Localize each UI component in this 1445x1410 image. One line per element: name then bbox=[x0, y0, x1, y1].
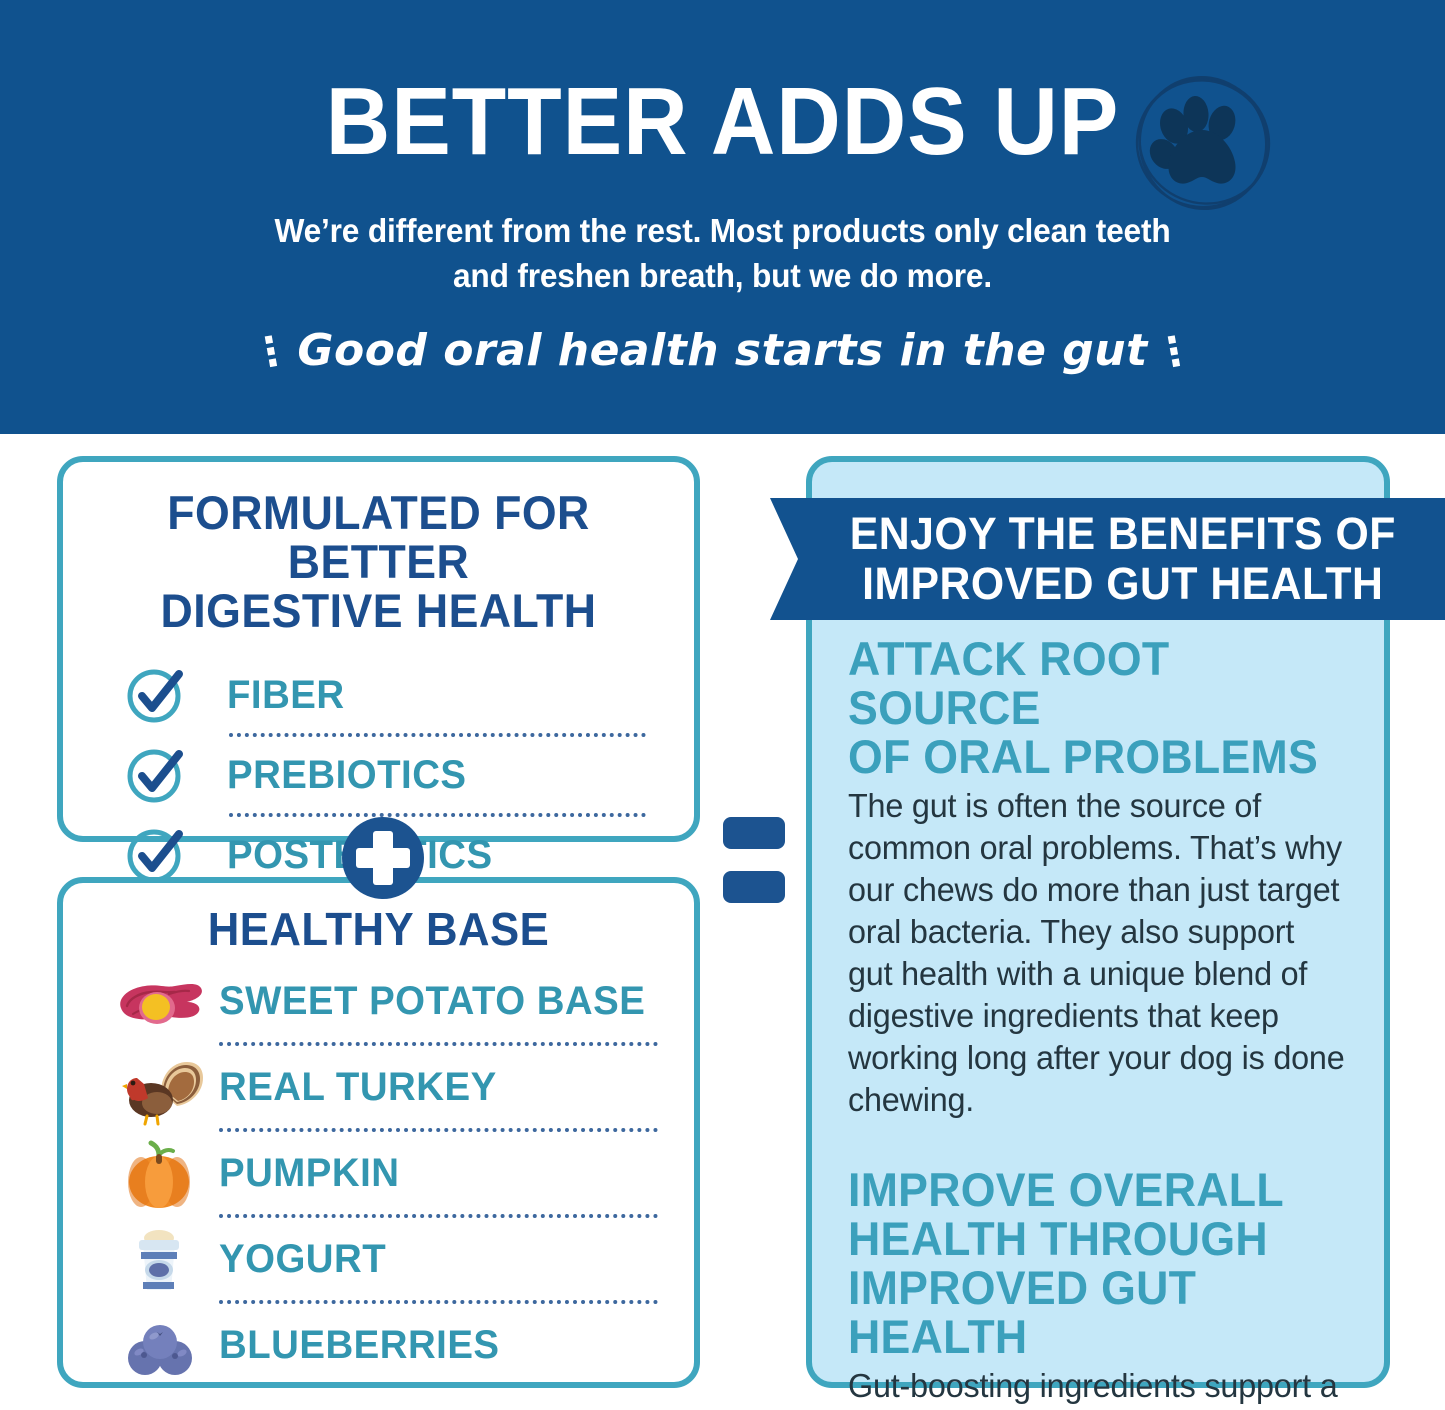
section-title-line2: OF ORAL PROBLEMS bbox=[848, 732, 1331, 781]
healthy-base-card: HEALTHY BASE SWEET POTATO BASE bbox=[57, 877, 700, 1388]
list-item: PUMPKIN bbox=[113, 1132, 668, 1214]
divider bbox=[219, 1128, 658, 1132]
tagline-deco-left: ⋮ bbox=[241, 325, 301, 379]
benefits-content: ATTACK ROOT SOURCE OF ORAL PROBLEMS The … bbox=[812, 634, 1384, 1410]
benefits-panel: ENJOY THE BENEFITS OF IMPROVED GUT HEALT… bbox=[806, 456, 1390, 1388]
content-area: FORMULATED FOR BETTER DIGESTIVE HEALTH F… bbox=[0, 434, 1445, 1410]
header-subtitle-line2: and freshen breath, but we do more. bbox=[29, 253, 1416, 298]
formulated-title-line1: FORMULATED FOR BETTER bbox=[79, 488, 678, 586]
list-item: SWEET POTATO BASE bbox=[113, 960, 668, 1042]
list-item-label: FIBER bbox=[227, 673, 345, 718]
header-banner: BETTER ADDS UP We’re different from the bbox=[0, 0, 1445, 434]
list-item-label: SWEET POTATO BASE bbox=[219, 979, 645, 1024]
formulated-title-line2: DIGESTIVE HEALTH bbox=[79, 586, 678, 635]
formulated-card: FORMULATED FOR BETTER DIGESTIVE HEALTH F… bbox=[57, 456, 700, 842]
blueberries-icon bbox=[113, 1306, 205, 1384]
ribbon-line1: ENJOY THE BENEFITS OF bbox=[827, 509, 1396, 559]
equals-bar-bottom bbox=[723, 871, 785, 903]
section-title-line2: HEALTH THROUGH bbox=[848, 1214, 1331, 1263]
divider bbox=[219, 1042, 658, 1046]
list-item-label: REAL TURKEY bbox=[219, 1065, 497, 1110]
list-item: FIBER bbox=[125, 657, 660, 733]
divider bbox=[229, 813, 646, 817]
ingredient-list: SWEET POTATO BASE bbox=[63, 960, 694, 1386]
section-body: Gut-boosting ingredients support a healt… bbox=[848, 1365, 1346, 1410]
turkey-icon bbox=[113, 1048, 205, 1126]
divider bbox=[219, 1300, 658, 1304]
section-title: IMPROVE OVERALL HEALTH THROUGH IMPROVED … bbox=[848, 1165, 1331, 1361]
ribbon-line2: IMPROVED GUT HEALTH bbox=[839, 559, 1383, 609]
list-item: REAL TURKEY bbox=[113, 1046, 668, 1128]
plus-circle-icon bbox=[342, 817, 424, 899]
list-item-label: BLUEBERRIES bbox=[219, 1323, 500, 1368]
infographic-page: BETTER ADDS UP We’re different from the bbox=[0, 0, 1445, 1410]
header-subtitle: We’re different from the rest. Most prod… bbox=[29, 208, 1416, 298]
list-item-label: YOGURT bbox=[219, 1237, 386, 1282]
list-item: PREBIOTICS bbox=[125, 737, 660, 813]
list-item-label: PREBIOTICS bbox=[227, 753, 467, 798]
section-title-line1: ATTACK ROOT SOURCE bbox=[848, 634, 1331, 732]
check-circle-icon bbox=[125, 825, 187, 885]
header-subtitle-line1: We’re different from the rest. Most prod… bbox=[29, 208, 1416, 253]
pumpkin-icon bbox=[113, 1134, 205, 1212]
divider bbox=[229, 733, 646, 737]
benefit-section-improve-overall-health: IMPROVE OVERALL HEALTH THROUGH IMPROVED … bbox=[848, 1165, 1356, 1410]
list-item: YOGURT bbox=[113, 1218, 668, 1300]
tagline-text: Good oral health starts in the gut bbox=[297, 325, 1147, 376]
yogurt-cup-icon bbox=[113, 1220, 205, 1298]
divider bbox=[219, 1214, 658, 1218]
section-title-line3: IMPROVED GUT HEALTH bbox=[848, 1263, 1331, 1361]
benefit-section-attack-root-source: ATTACK ROOT SOURCE OF ORAL PROBLEMS The … bbox=[848, 634, 1356, 1121]
healthy-base-title: HEALTHY BASE bbox=[79, 905, 678, 954]
check-circle-icon bbox=[125, 665, 187, 725]
sweet-potato-icon bbox=[113, 962, 205, 1040]
section-body: The gut is often the source of common or… bbox=[848, 785, 1346, 1121]
equals-sign-icon bbox=[723, 817, 785, 905]
check-circle-icon bbox=[125, 745, 187, 805]
list-item-label: PUMPKIN bbox=[219, 1151, 399, 1196]
list-item: BLUEBERRIES bbox=[113, 1304, 668, 1386]
benefits-ribbon: ENJOY THE BENEFITS OF IMPROVED GUT HEALT… bbox=[770, 498, 1445, 620]
section-spacer bbox=[848, 1121, 1356, 1165]
header-tagline: ⋮Good oral health starts in the gut⋮ bbox=[0, 325, 1445, 376]
paw-print-icon bbox=[1128, 68, 1278, 218]
tagline-deco-right: ⋮ bbox=[1144, 325, 1204, 379]
equals-bar-top bbox=[723, 817, 785, 849]
formulated-card-title: FORMULATED FOR BETTER DIGESTIVE HEALTH bbox=[79, 488, 678, 635]
section-title-line1: IMPROVE OVERALL bbox=[848, 1165, 1331, 1214]
section-title: ATTACK ROOT SOURCE OF ORAL PROBLEMS bbox=[848, 634, 1331, 781]
